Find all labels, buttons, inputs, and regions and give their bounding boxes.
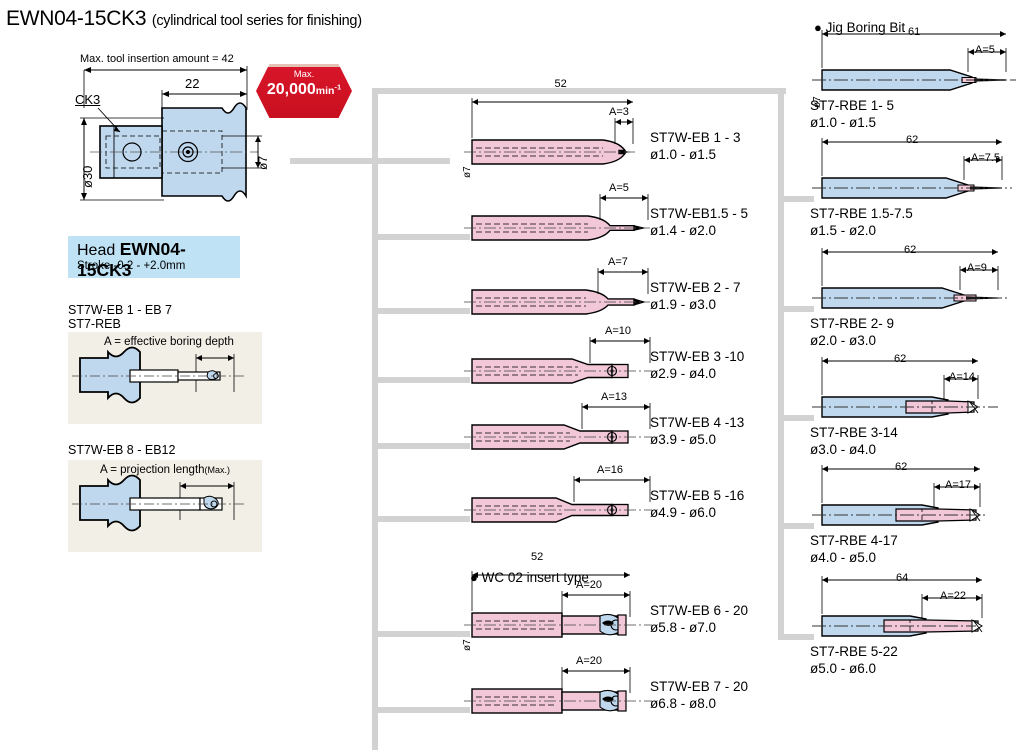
tool-range-1: ø1.0 - ø1.5 xyxy=(650,147,716,162)
tool-a-dim-6: A=16 xyxy=(597,464,623,476)
connector-stub-mid-7 xyxy=(372,631,470,637)
jig-length-dim-1: 61 xyxy=(908,26,920,38)
page-title-main: EWN04-15CK3 xyxy=(6,7,146,30)
jig-range-5: ø4.0 - ø5.0 xyxy=(810,550,876,565)
head-insertion-label: Max. tool insertion amount = 42 xyxy=(80,53,234,65)
legend-2-title-line1: ST7W-EB 8 - EB12 xyxy=(68,443,175,457)
jig-a-dim-6: A=22 xyxy=(940,590,966,602)
jig-name-4: ST7-RBE 3-14 xyxy=(810,425,898,440)
connector-stub-mid-1 xyxy=(372,158,450,164)
connector-stub-mid-5 xyxy=(372,443,470,449)
jig-length-dim-5: 62 xyxy=(895,461,907,473)
tool-name-8: ST7W-EB 7 - 20 xyxy=(650,679,748,694)
max-speed-badge: Max. 20,000min-1 xyxy=(256,64,352,118)
connector-right-trunk xyxy=(778,88,784,640)
tool-range-7: ø5.8 - ø7.0 xyxy=(650,620,716,635)
tool-range-4: ø2.9 - ø4.0 xyxy=(650,366,716,381)
connector-stub-mid-2 xyxy=(372,234,470,240)
head-info-box: Head EWN04-15CK3 Stroke -0.2 - +2.0mm xyxy=(68,236,240,278)
max-speed-exponent: -1 xyxy=(334,83,341,92)
tool-range-6: ø4.9 - ø6.0 xyxy=(650,505,716,520)
tool-name-4: ST7W-EB 3 -10 xyxy=(650,349,744,364)
mid-dia7-row1: ø7 xyxy=(462,166,473,178)
tool-name-6: ST7W-EB 5 -16 xyxy=(650,488,744,503)
tool-a-dim-3: A=7 xyxy=(608,256,628,268)
jig-dia7-row1: ø7 xyxy=(812,96,823,108)
jig-length-dim-3: 62 xyxy=(904,244,916,256)
connector-stub-right-5 xyxy=(778,523,814,529)
jig-name-5: ST7-RBE 4-17 xyxy=(810,533,898,548)
jig-range-4: ø3.0 - ø4.0 xyxy=(810,442,876,457)
jig-range-3: ø2.0 - ø3.0 xyxy=(810,333,876,348)
legend-2-caption-suffix: (Max.) xyxy=(205,465,231,475)
tool-name-5: ST7W-EB 4 -13 xyxy=(650,415,744,430)
max-speed-value: 20,000 xyxy=(267,81,316,98)
jig-length-dim-2: 62 xyxy=(906,134,918,146)
tool-range-8: ø6.8 - ø8.0 xyxy=(650,696,716,711)
connector-stub-right-4 xyxy=(778,415,814,421)
jig-tool-row-2 xyxy=(822,132,1022,212)
jig-a-dim-4: A=14 xyxy=(949,371,975,383)
connector-stub-mid-6 xyxy=(372,516,470,522)
jig-name-2: ST7-RBE 1.5-7.5 xyxy=(810,206,913,221)
head-taper-label: CK3 xyxy=(75,92,100,107)
jig-a-dim-1: A=5 xyxy=(975,44,995,56)
tool-range-3: ø1.9 - ø3.0 xyxy=(650,297,716,312)
jig-a-dim-3: A=9 xyxy=(967,262,987,274)
jig-tool-row-3 xyxy=(822,242,1022,322)
mid-dia7-row7: ø7 xyxy=(462,639,473,651)
jig-tool-row-1 xyxy=(822,24,1022,104)
tool-a-dim-8: A=20 xyxy=(576,655,602,667)
connector-stub-mid-8 xyxy=(372,707,470,713)
jig-tool-row-4 xyxy=(822,351,1022,431)
connector-stub-right-1 xyxy=(756,88,786,94)
jig-tool-row-6 xyxy=(822,570,1022,650)
connector-stub-mid-4 xyxy=(372,377,470,383)
tool-a-dim-2: A=5 xyxy=(609,182,629,194)
tool-a-dim-1: A=3 xyxy=(609,106,629,118)
jig-name-6: ST7-RBE 5-22 xyxy=(810,644,898,659)
jig-length-dim-4: 62 xyxy=(894,353,906,365)
legend-2-caption-text: A = projection length xyxy=(100,464,205,476)
tool-range-5: ø3.9 - ø5.0 xyxy=(650,432,716,447)
page-title-subtitle: (cylindrical tool series for finishing) xyxy=(152,13,362,29)
legend-1-caption: A = effective boring depth xyxy=(104,336,234,348)
jig-range-6: ø5.0 - ø6.0 xyxy=(810,661,876,676)
jig-tool-row-5 xyxy=(822,459,1022,539)
connector-stub-right-6 xyxy=(778,634,814,640)
jig-range-2: ø1.5 - ø2.0 xyxy=(810,223,876,238)
tool-a-dim-5: A=13 xyxy=(601,391,627,403)
connector-main-trunk xyxy=(372,88,378,750)
connector-stub-mid-3 xyxy=(372,308,470,314)
max-speed-prefix: Max. xyxy=(256,69,352,80)
tool-name-1: ST7W-EB 1 - 3 xyxy=(650,130,741,145)
jig-a-dim-5: A=17 xyxy=(945,479,971,491)
head-info-stroke: Stroke -0.2 - +2.0mm xyxy=(77,260,185,272)
head-dia-7-label: ø7 xyxy=(256,156,270,170)
legend-2-caption: A = projection length(Max.) xyxy=(100,464,230,476)
legend-1-title-line1: ST7W-EB 1 - EB 7 xyxy=(68,303,172,317)
tool-length-dim-1: 52 xyxy=(555,78,567,90)
tool-name-3: ST7W-EB 2 - 7 xyxy=(650,280,741,295)
tool-a-dim-7: A=20 xyxy=(576,579,602,591)
max-speed-unit: min xyxy=(316,85,335,97)
tool-name-7: ST7W-EB 6 - 20 xyxy=(650,603,748,618)
connector-stub-right-2 xyxy=(778,196,814,202)
tool-name-2: ST7W-EB1.5 - 5 xyxy=(650,206,748,221)
jig-name-3: ST7-RBE 2- 9 xyxy=(810,316,894,331)
jig-length-dim-6: 64 xyxy=(896,572,908,584)
tool-a-dim-4: A=10 xyxy=(605,325,631,337)
legend-1-title-line2: ST7-REB xyxy=(68,317,121,331)
jig-a-dim-2: A=7.5 xyxy=(971,152,1000,164)
tool-length-dim-7: 52 xyxy=(531,551,543,563)
connector-stub-right-3 xyxy=(778,306,814,312)
head-detail-drawing xyxy=(62,48,282,208)
bullet-icon: ● xyxy=(814,20,822,35)
page-title: EWN04-15CK3 (cylindrical tool series for… xyxy=(6,7,362,31)
head-dim-22: 22 xyxy=(185,76,199,91)
head-dia-30-label: ø30 xyxy=(80,166,95,188)
tool-range-2: ø1.4 - ø2.0 xyxy=(650,223,716,238)
head-info-prefix: Head xyxy=(77,242,115,259)
jig-range-1: ø1.0 - ø1.5 xyxy=(810,115,876,130)
